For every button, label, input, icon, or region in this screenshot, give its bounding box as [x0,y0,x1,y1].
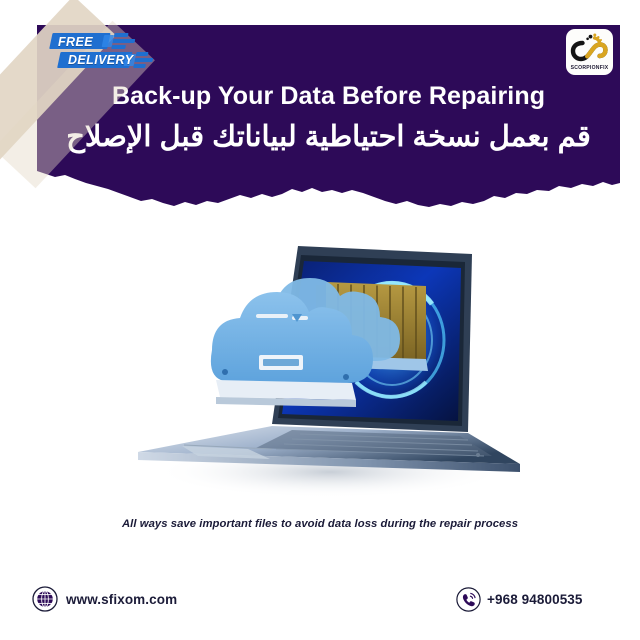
headline-english: Back-up Your Data Before Repairing [37,82,620,111]
footer-website[interactable]: www.sfixom.com [32,586,177,612]
website-label: www.sfixom.com [66,592,177,607]
free-delivery-text: FREE DELIVERY [45,31,155,77]
footer: www.sfixom.com +968 94800535 [0,570,640,640]
badge-line-free: FREE [58,36,93,49]
brand-logo-wordmark: SCORPIONFIX [566,65,613,71]
brand-logo[interactable]: SCORPIONFIX [566,29,613,75]
caption-text: All ways save important files to avoid d… [50,518,590,530]
headline-arabic: قم بعمل نسخة احتياطية لبياناتك قبل الإصل… [37,118,620,157]
free-delivery-badge: FREE DELIVERY [45,31,155,77]
phone-icon [456,587,481,612]
scorpion-infinity-icon [570,32,609,64]
badge-line-delivery: DELIVERY [68,54,134,67]
footer-phone[interactable]: +968 94800535 [456,587,583,612]
globe-icon [32,586,58,612]
laptop-cloud-backup-illustration [120,240,540,505]
phone-label: +968 94800535 [487,592,583,607]
poster-canvas: FREE DELIVERY SCORPIONFIX Back-up Your D… [0,0,640,640]
